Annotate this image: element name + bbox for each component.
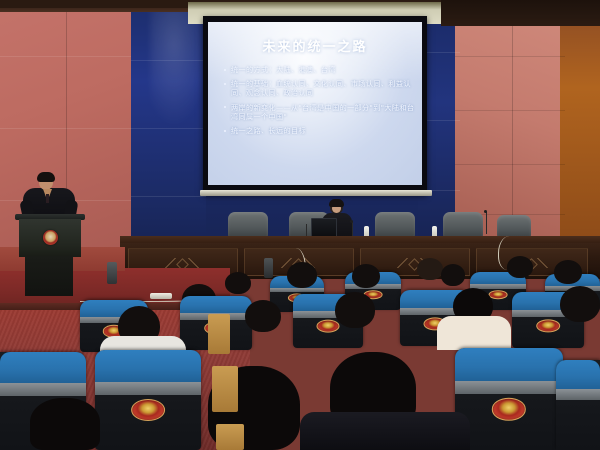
conference-chair — [228, 212, 268, 238]
slide-bullet: 统一的方式：大陆、港澳、台湾 — [224, 65, 420, 74]
seat-end-panel — [208, 314, 230, 354]
seated-presenter-hair — [329, 199, 344, 207]
seat-trim — [0, 383, 86, 396]
microphone-stand — [352, 222, 353, 236]
seat-headrest — [0, 352, 86, 385]
presentation-remote — [150, 293, 172, 299]
podium-base — [25, 256, 73, 296]
audience-member-head — [554, 260, 582, 284]
audience-member-shoulders — [300, 412, 470, 450]
audience-member-head — [441, 264, 465, 286]
speaker-hair — [37, 172, 55, 182]
podium — [17, 214, 83, 294]
audience-member-head — [12, 316, 38, 338]
wall-seam — [455, 164, 565, 165]
audience-member-head — [417, 258, 443, 280]
seat-end-panel — [216, 424, 244, 450]
ceiling-soffit-left — [0, 0, 190, 8]
audience-member-head — [352, 264, 380, 288]
seat-headrest — [455, 348, 563, 383]
institutional-seal-icon — [43, 230, 58, 245]
thermos — [264, 258, 273, 278]
microphone-icon — [350, 220, 353, 223]
microphone-icon — [484, 210, 487, 213]
seat-emblem-icon — [492, 398, 526, 420]
conference-chair — [443, 212, 483, 238]
projection-screen-bottom-bar — [200, 190, 432, 196]
wall-seam — [455, 56, 565, 57]
seat-trim — [455, 381, 563, 394]
seat-trim — [556, 389, 600, 401]
wall-light-sheen — [150, 8, 210, 128]
audience-member-head — [335, 292, 375, 328]
conference-chair — [375, 212, 415, 238]
seat-trim — [270, 288, 324, 293]
audience-member-head — [507, 256, 533, 278]
seat-headrest — [556, 360, 600, 391]
wall-panel-orange-far — [560, 0, 600, 250]
auditorium-seat — [556, 360, 600, 450]
auditorium-seat — [455, 348, 563, 450]
auditorium-seat — [95, 350, 201, 450]
microphone-stand — [306, 224, 307, 236]
speaker-tie — [46, 194, 49, 203]
wall-seam-vertical — [512, 0, 513, 250]
audience-member-head — [287, 262, 317, 288]
conference-chair — [497, 215, 531, 238]
seat-emblem-icon — [317, 320, 340, 333]
audience-member-head — [30, 398, 100, 450]
slide-bullet: 两岸的新变化——从"台湾是中国的一部分"到"大陆和台湾同属一个中国" — [224, 103, 420, 121]
slide-bullet: 统一的基础：血统认同、文化认同、市场认同、利益认同、观念认同、政治认同 — [224, 79, 420, 97]
audience-member-shoulders — [437, 316, 511, 350]
audience-member-head — [560, 286, 600, 322]
lecture-hall-scene: 未来的统一之路 统一的方式：大陆、港澳、台湾 统一的基础：血统认同、文化认同、市… — [0, 0, 600, 450]
ceiling-soffit-right — [441, 0, 600, 26]
slide-bullet: 统一之路、长远的目标 — [224, 126, 420, 135]
microphone-stand — [486, 212, 487, 234]
audience-member-head — [245, 300, 281, 332]
seat-trim — [95, 382, 201, 395]
wall-seam — [131, 60, 206, 61]
thermos — [107, 262, 117, 284]
audience-member-head — [225, 272, 251, 294]
slide-title: 未来的统一之路 — [210, 36, 420, 55]
wall-seam — [455, 110, 565, 111]
seat-headrest — [95, 350, 201, 384]
seat-emblem-icon — [536, 319, 560, 332]
seat-headrest — [180, 296, 252, 314]
slide-bullet-list: 统一的方式：大陆、港澳、台湾 统一的基础：血统认同、文化认同、市场认同、利益认同… — [224, 65, 420, 135]
seat-end-panel — [212, 366, 238, 412]
wall-seam — [131, 128, 206, 129]
slide-content: 未来的统一之路 统一的方式：大陆、港澳、台湾 统一的基础：血统认同、文化认同、市… — [210, 24, 420, 182]
laptop — [311, 218, 337, 237]
wall-seam — [131, 196, 206, 197]
seat-emblem-icon — [131, 399, 165, 421]
